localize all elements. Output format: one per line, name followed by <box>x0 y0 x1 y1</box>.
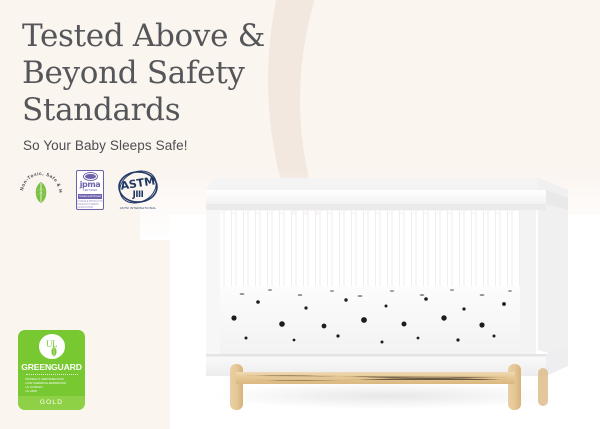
crib-illustration <box>186 168 600 413</box>
badge-jpma: jpma CERTIFIED Tested and Proved JUVENIL… <box>76 170 104 210</box>
leaf-icon <box>50 346 58 357</box>
jpma-subtext: CERTIFIED <box>83 189 98 192</box>
badge-greenguard-gold: UL GREENGUARD PRODUCT CERTIFIED FOR LOW … <box>18 330 85 410</box>
badge-non-toxic: Non-Toxic, Safe & Healthy <box>18 168 64 212</box>
fine-line-4: UL 2818 <box>26 389 78 393</box>
headline-line-3: Standards <box>22 92 322 129</box>
astm-caption: ASTM INTERNATIONAL <box>116 206 160 210</box>
svg-text:JIII: JIII <box>132 190 144 200</box>
page-subtitle: So Your Baby Sleeps Safe! <box>23 138 188 153</box>
greenguard-level-text: GOLD <box>40 399 63 406</box>
headline-line-2: Beyond Safety <box>22 55 322 92</box>
jpma-footer-text: JUVENILE PRODUCTS MANUFACTURERS ASSOCIAT… <box>77 200 103 209</box>
greenguard-level-bar: GOLD <box>18 396 85 410</box>
greenguard-title: GREENGUARD <box>21 362 82 372</box>
badge-astm: ASTM JIII ASTM INTERNATIONAL <box>116 170 160 210</box>
jpma-wordmark: jpma <box>80 181 101 189</box>
jpma-seal-icon <box>84 173 97 180</box>
headline-line-1: Tested Above & <box>22 18 322 55</box>
greenguard-divider <box>26 374 78 375</box>
certification-badge-row: Non-Toxic, Safe & Healthy jpma CERTIFIED… <box>18 168 160 212</box>
ul-leaf-icon: UL <box>39 334 65 359</box>
page-title: Tested Above & Beyond Safety Standards <box>22 18 322 129</box>
astm-logo-icon: ASTM JIII <box>116 170 160 206</box>
promo-banner: Tested Above & Beyond Safety Standards S… <box>0 0 600 429</box>
leaf-icon <box>36 182 47 203</box>
greenguard-fine-print: PRODUCT CERTIFIED FOR LOW CHEMICAL EMISS… <box>26 377 78 393</box>
jpma-tested-bar: Tested and Proved <box>78 194 102 199</box>
